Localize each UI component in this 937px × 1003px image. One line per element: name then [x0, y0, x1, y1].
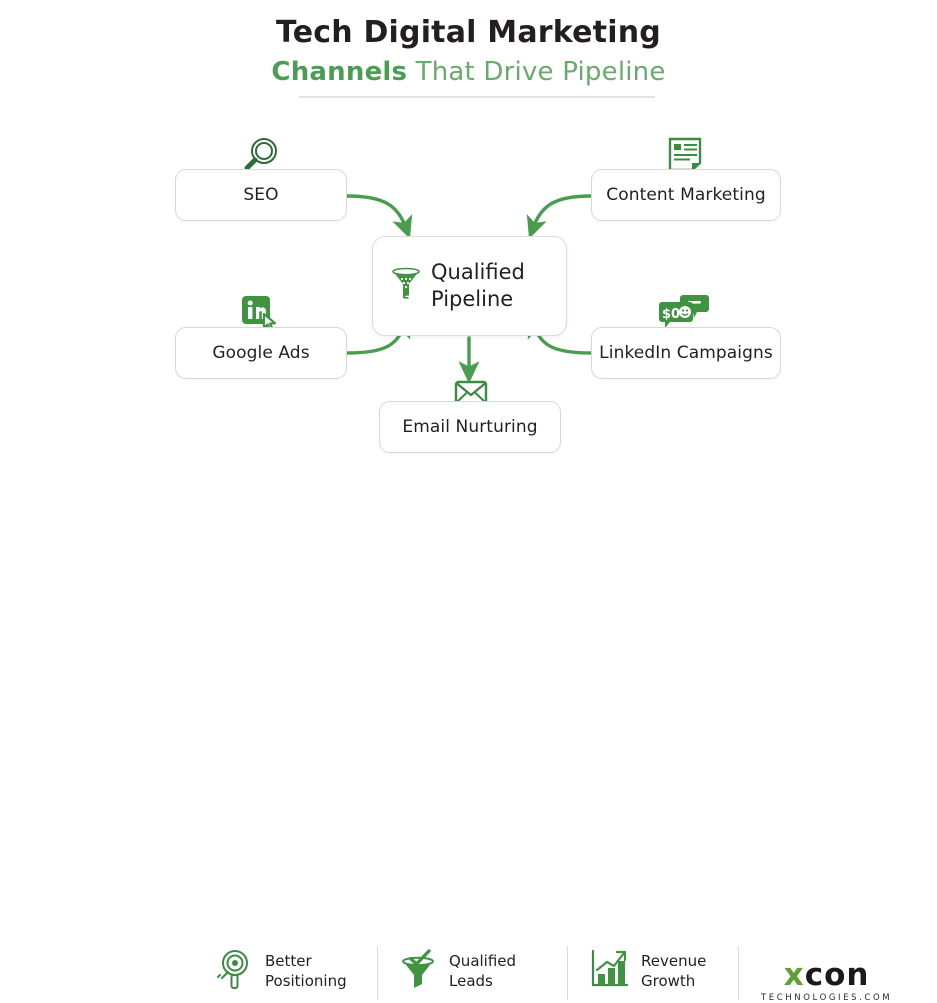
funnel-check-icon — [398, 948, 438, 994]
benefit-item-qualified-leads: Qualified Leads — [398, 948, 516, 994]
benefit-label-line2: Leads — [449, 972, 493, 990]
diagram-canvas: Tech Digital Marketing Channels That Dri… — [0, 0, 937, 550]
logo-subtitle: TECHNOLOGIES.COM — [761, 993, 892, 1003]
center-node-label: Qualified Pipeline — [431, 259, 525, 313]
channel-label: Content Marketing — [606, 185, 765, 205]
channel-node-content-marketing[interactable]: Content Marketing — [591, 169, 781, 221]
channel-node-google-ads[interactable]: Google Ads — [175, 327, 347, 379]
benefit-item-positioning: Better Positioning — [214, 948, 347, 994]
channel-label: Email Nurturing — [402, 417, 537, 437]
footer-benefits: Better Positioning Qualified Leads — [0, 470, 937, 550]
title-line-secondary: Channels That Drive Pipeline — [0, 56, 937, 88]
logo-mark-x: x — [784, 957, 805, 993]
center-node-qualified-pipeline[interactable]: Qualified Pipeline — [372, 236, 567, 336]
logo-wordmark: xcon — [761, 959, 892, 992]
channel-label: Google Ads — [212, 343, 309, 363]
benefit-label-line2: Positioning — [265, 972, 347, 990]
benefit-label: Qualified Leads — [449, 951, 516, 991]
benefit-label-line2: Growth — [641, 972, 695, 990]
logo-mark-con: con — [805, 957, 870, 993]
footer-divider — [377, 946, 378, 1000]
center-label-line1: Qualified — [431, 260, 525, 284]
benefit-label: Better Positioning — [265, 951, 347, 991]
footer-divider — [567, 946, 568, 1000]
bar-chart-growth-icon — [588, 948, 630, 994]
footer-divider — [738, 946, 739, 1000]
svg-text:$0: $0 — [662, 307, 680, 322]
title-divider — [299, 96, 655, 98]
title-remainder: That Drive Pipeline — [407, 57, 665, 87]
benefit-label: Revenue Growth — [641, 951, 706, 991]
benefit-label-line1: Qualified — [449, 952, 516, 970]
channel-node-email-nurturing[interactable]: Email Nurturing — [379, 401, 561, 453]
channel-node-linkedin-campaigns[interactable]: LinkedIn Campaigns — [591, 327, 781, 379]
page-title: Tech Digital Marketing Channels That Dri… — [0, 16, 937, 88]
company-logo: xcon TECHNOLOGIES.COM — [761, 959, 892, 1003]
title-line-primary: Tech Digital Marketing — [0, 16, 937, 50]
channel-label: SEO — [243, 185, 278, 205]
benefit-label-line1: Revenue — [641, 952, 706, 970]
target-dart-icon — [214, 948, 254, 994]
channel-label: LinkedIn Campaigns — [599, 343, 773, 363]
center-label-line2: Pipeline — [431, 287, 513, 311]
benefit-label-line1: Better — [265, 952, 312, 970]
channel-node-seo[interactable]: SEO — [175, 169, 347, 221]
funnel-icon — [391, 267, 421, 305]
benefit-item-revenue-growth: Revenue Growth — [588, 948, 706, 994]
title-keyword: Channels — [271, 57, 407, 87]
